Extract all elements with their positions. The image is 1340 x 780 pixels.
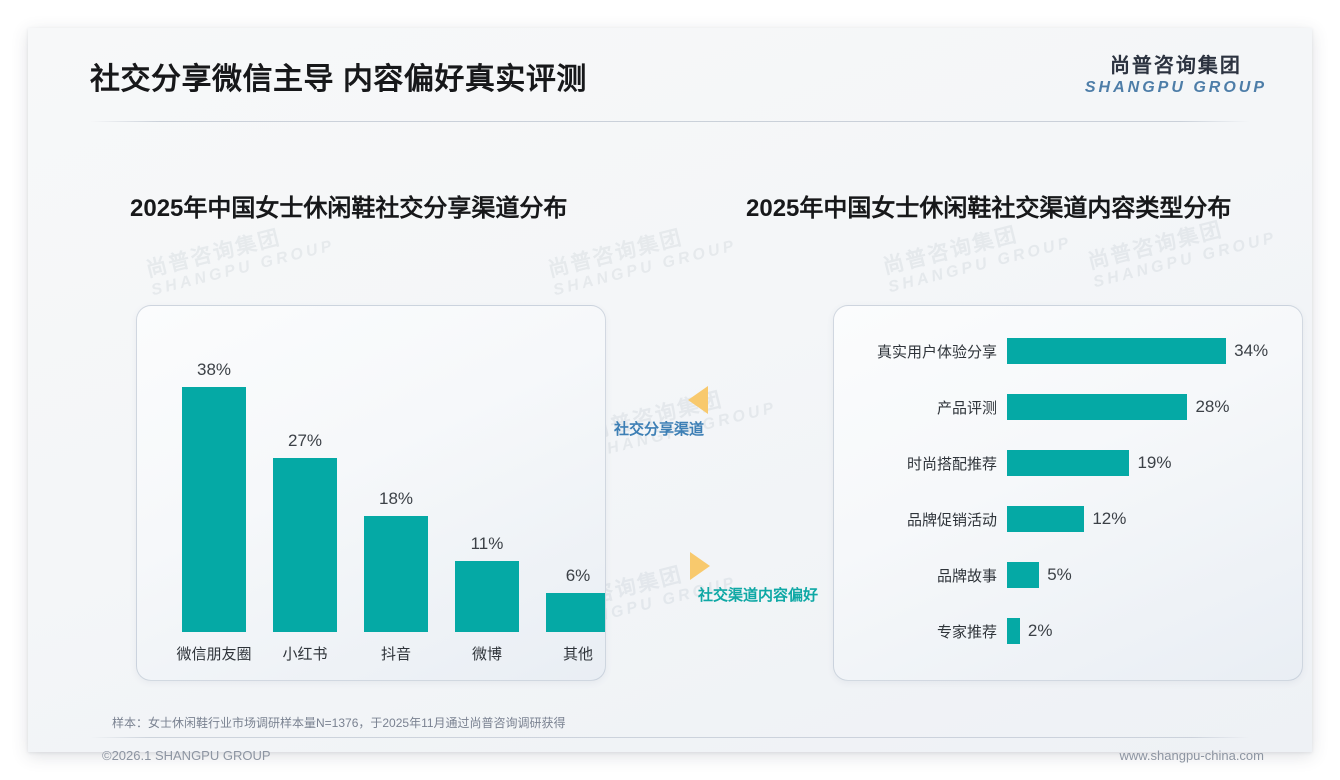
bar-fill[interactable] bbox=[1007, 506, 1084, 532]
bar-value-label: 34% bbox=[1226, 341, 1268, 361]
note-content-preference: 社交渠道内容偏好 bbox=[690, 552, 818, 605]
bar-value-label: 12% bbox=[1084, 509, 1126, 529]
bar-category-label: 品牌故事 bbox=[834, 565, 1007, 586]
bar-row[interactable]: 真实用户体验分享34% bbox=[834, 338, 1302, 364]
bar-value-label: 28% bbox=[1187, 397, 1229, 417]
bar-category-label: 品牌促销活动 bbox=[834, 509, 1007, 530]
watermark-en: SHANGPU GROUP bbox=[1091, 229, 1278, 292]
bar-row[interactable]: 产品评测28% bbox=[834, 394, 1302, 420]
slide-header: 社交分享微信主导 内容偏好真实评测 尚普咨询集团 SHANGPU GROUP bbox=[28, 28, 1312, 121]
note-social-share-channel: 社交分享渠道 bbox=[614, 386, 708, 439]
bar-row[interactable]: 时尚搭配推荐19% bbox=[834, 450, 1302, 476]
column-bar[interactable] bbox=[364, 516, 428, 632]
bar-category-label: 时尚搭配推荐 bbox=[834, 453, 1007, 474]
watermark: 尚普咨询集团 SHANGPU GROUP bbox=[144, 214, 337, 300]
website-url: www.shangpu-china.com bbox=[1119, 748, 1264, 763]
bar-fill[interactable] bbox=[1007, 450, 1129, 476]
left-chart-title: 2025年中国女士休闲鞋社交分享渠道分布 bbox=[130, 188, 567, 223]
column-category-label: 其他 bbox=[523, 643, 606, 664]
column-bar-group[interactable]: 18% bbox=[364, 489, 428, 632]
watermark-en: SHANGPU GROUP bbox=[886, 234, 1073, 297]
right-chart-card: 真实用户体验分享34%产品评测28%时尚搭配推荐19%品牌促销活动12%品牌故事… bbox=[833, 305, 1303, 681]
column-value-label: 27% bbox=[288, 431, 322, 451]
column-value-label: 18% bbox=[379, 489, 413, 509]
column-bar-group[interactable]: 27% bbox=[273, 431, 337, 632]
bar-value-label: 19% bbox=[1129, 453, 1171, 473]
brand-logo: 尚普咨询集团 SHANGPU GROUP bbox=[1085, 56, 1267, 96]
watermark-cn: 尚普咨询集团 bbox=[546, 214, 735, 282]
bar-row[interactable]: 专家推荐2% bbox=[834, 618, 1302, 644]
copyright-text: ©2026.1 SHANGPU GROUP bbox=[102, 748, 271, 763]
bar-category-label: 真实用户体验分享 bbox=[834, 341, 1007, 362]
bar-row[interactable]: 品牌故事5% bbox=[834, 562, 1302, 588]
triangle-right-icon bbox=[690, 552, 710, 580]
watermark: 尚普咨询集团 SHANGPU GROUP bbox=[546, 214, 739, 300]
column-value-label: 6% bbox=[566, 566, 591, 586]
bar-chart: 真实用户体验分享34%产品评测28%时尚搭配推荐19%品牌促销活动12%品牌故事… bbox=[834, 306, 1302, 680]
column-bar[interactable] bbox=[546, 593, 606, 632]
page-title: 社交分享微信主导 内容偏好真实评测 bbox=[90, 54, 587, 98]
note-social-share-channel-label: 社交分享渠道 bbox=[614, 418, 708, 439]
column-bar[interactable] bbox=[182, 387, 246, 632]
column-bar[interactable] bbox=[455, 561, 519, 632]
header-divider bbox=[90, 121, 1250, 122]
bar-value-label: 2% bbox=[1020, 621, 1053, 641]
bar-value-label: 5% bbox=[1039, 565, 1072, 585]
column-bar-group[interactable]: 11% bbox=[455, 534, 519, 632]
bar-fill[interactable] bbox=[1007, 394, 1187, 420]
column-bar-group[interactable]: 6% bbox=[546, 566, 606, 632]
footer-divider bbox=[90, 737, 1250, 738]
column-chart: 38%微信朋友圈27%小红书18%抖音11%微博6%其他 bbox=[137, 306, 605, 680]
left-chart-card: 38%微信朋友圈27%小红书18%抖音11%微博6%其他 bbox=[136, 305, 606, 681]
bar-category-label: 产品评测 bbox=[834, 397, 1007, 418]
watermark-en: SHANGPU GROUP bbox=[149, 237, 336, 300]
column-bar[interactable] bbox=[273, 458, 337, 632]
column-bar-group[interactable]: 38% bbox=[182, 360, 246, 632]
bar-category-label: 专家推荐 bbox=[834, 621, 1007, 642]
watermark-cn: 尚普咨询集团 bbox=[144, 214, 333, 282]
watermark: 尚普咨询集团 SHANGPU GROUP bbox=[881, 211, 1074, 297]
watermark-en: SHANGPU GROUP bbox=[551, 237, 738, 300]
right-chart-title: 2025年中国女士休闲鞋社交渠道内容类型分布 bbox=[746, 188, 1231, 223]
bar-row[interactable]: 品牌促销活动12% bbox=[834, 506, 1302, 532]
column-value-label: 38% bbox=[197, 360, 231, 380]
bar-fill[interactable] bbox=[1007, 338, 1226, 364]
brand-name-en: SHANGPU GROUP bbox=[1085, 80, 1267, 96]
triangle-left-icon bbox=[688, 386, 708, 414]
sample-footnote: 样本：女士休闲鞋行业市场调研样本量N=1376，于2025年11月通过尚普咨询调… bbox=[112, 714, 566, 731]
column-value-label: 11% bbox=[471, 534, 504, 554]
slide-canvas: 社交分享微信主导 内容偏好真实评测 尚普咨询集团 SHANGPU GROUP 2… bbox=[28, 28, 1312, 752]
bar-fill[interactable] bbox=[1007, 618, 1020, 644]
bar-fill[interactable] bbox=[1007, 562, 1039, 588]
note-content-preference-label: 社交渠道内容偏好 bbox=[698, 584, 818, 605]
brand-name-cn: 尚普咨询集团 bbox=[1085, 56, 1267, 76]
